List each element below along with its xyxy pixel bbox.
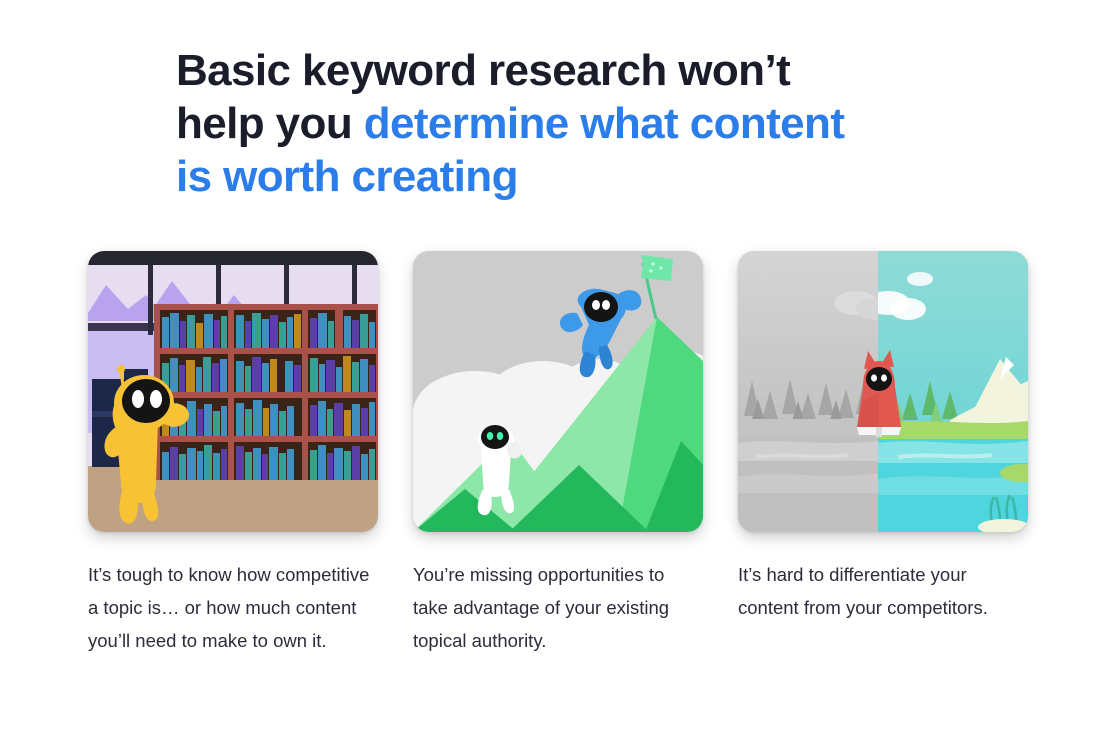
bookshelf [154, 304, 378, 480]
split-landscape-svg [738, 251, 1028, 532]
headline-line-2-dark: help you [176, 99, 364, 148]
split-landscape-illustration [738, 251, 1028, 532]
benefit-card: It’s hard to differentiate your content … [738, 251, 1028, 657]
page-title: Basic keyword research won’t help you de… [176, 44, 976, 203]
benefit-card: You’re missing opportunities to take adv… [413, 251, 703, 657]
library-scene-svg [88, 251, 378, 532]
benefit-card-list: It’s tough to know how competitive a top… [88, 251, 1028, 657]
promo-section: Basic keyword research won’t help you de… [0, 0, 1116, 738]
benefit-card: It’s tough to know how competitive a top… [88, 251, 378, 657]
card-caption: It’s tough to know how competitive a top… [88, 532, 378, 657]
headline-line-3-accent: is worth creating [176, 152, 518, 201]
mountain-climb-illustration [413, 251, 703, 532]
card-caption: It’s hard to differentiate your content … [738, 532, 1028, 624]
mountain-climb-svg [413, 251, 703, 532]
card-caption: You’re missing opportunities to take adv… [413, 532, 703, 657]
library-scene-illustration [88, 251, 378, 532]
headline-line-1: Basic keyword research won’t [176, 46, 790, 95]
headline-line-2-accent: determine what content [364, 99, 845, 148]
